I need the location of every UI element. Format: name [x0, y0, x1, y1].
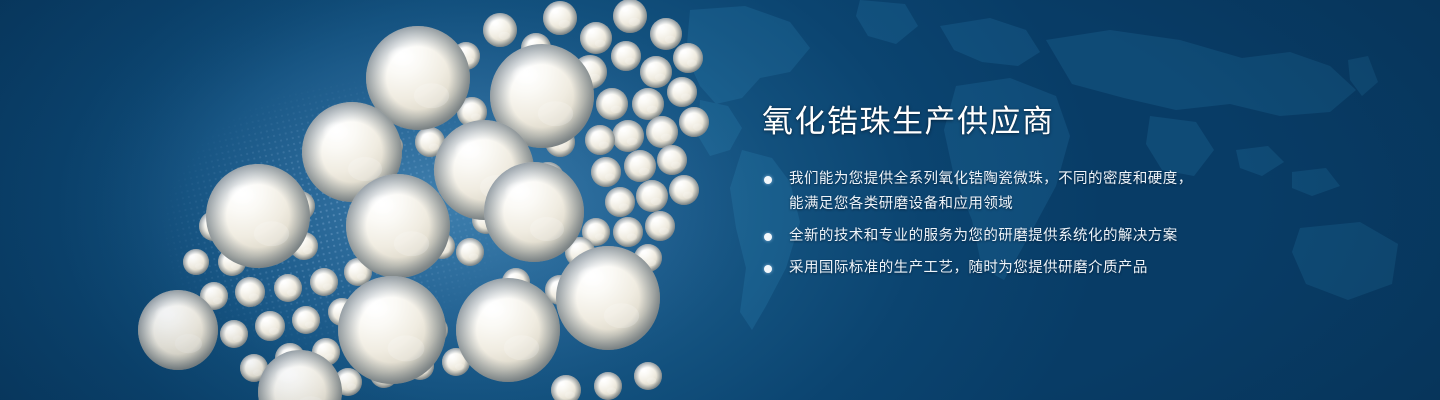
hero-banner: 氧化锆珠生产供应商 我们能为您提供全系列氧化锆陶瓷微珠，不同的密度和硬度， 能满… — [0, 0, 1440, 400]
vignette-overlay — [0, 0, 1440, 400]
